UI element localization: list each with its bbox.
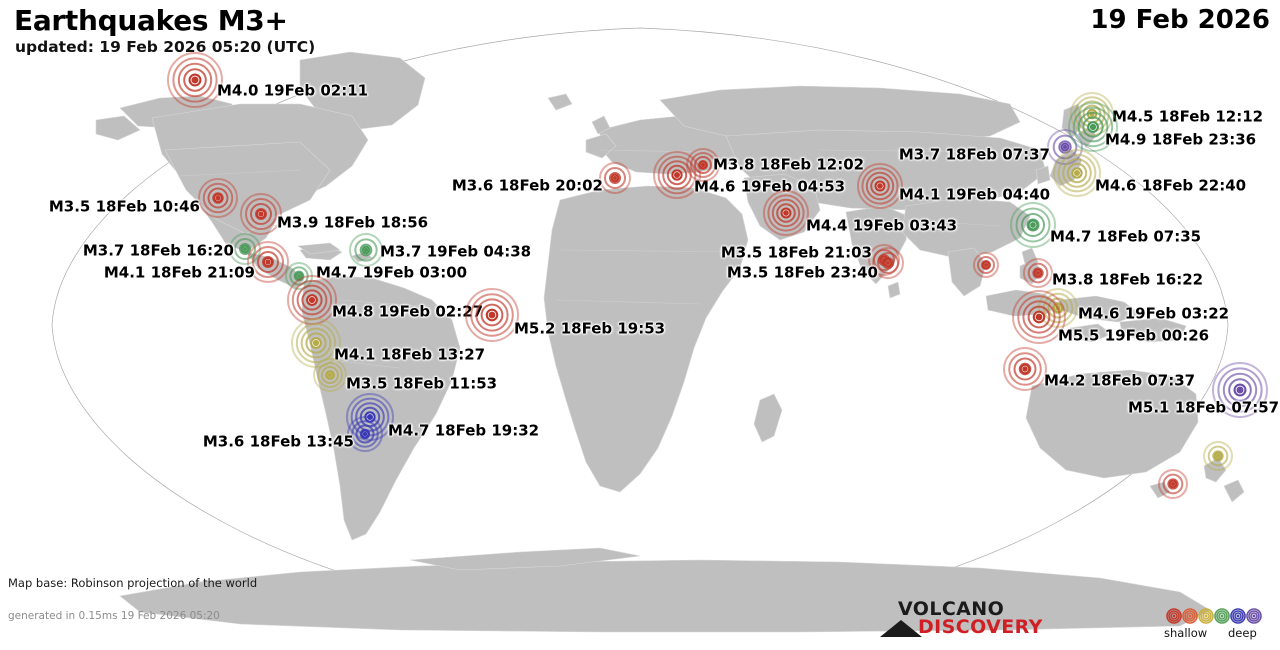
earthquake-map-page: Earthquakes M3+ updated: 19 Feb 2026 05:… <box>0 0 1280 650</box>
earthquake-label: M3.7 18Feb 07:37 <box>899 148 1050 163</box>
generated-caption: generated in 0.15ms 19 Feb 2026 05:20 <box>8 610 220 622</box>
earthquake-marker[interactable] <box>197 177 239 219</box>
earthquake-marker[interactable] <box>598 161 632 195</box>
map-date: 19 Feb 2026 <box>1090 5 1270 35</box>
earthquake-marker[interactable] <box>312 357 348 393</box>
legend-label-deep: deep <box>1228 626 1257 640</box>
earthquake-label: M3.7 18Feb 16:20 <box>83 244 234 259</box>
earthquake-marker[interactable] <box>856 162 904 210</box>
earthquake-marker[interactable] <box>1022 257 1054 289</box>
earthquake-label: M4.0 19Feb 02:11 <box>217 84 368 99</box>
earthquake-marker[interactable] <box>166 51 224 109</box>
page-title: Earthquakes M3+ <box>14 4 288 37</box>
earthquake-label: M5.2 18Feb 19:53 <box>514 322 665 337</box>
earthquake-label: M4.7 19Feb 03:00 <box>316 266 467 281</box>
earthquake-label: M4.1 18Feb 21:09 <box>104 266 255 281</box>
earthquake-marker[interactable] <box>464 287 520 343</box>
earthquake-label: M3.8 18Feb 12:02 <box>713 158 864 173</box>
map-base-caption: Map base: Robinson projection of the wor… <box>8 576 257 590</box>
earthquake-label: M4.2 18Feb 07:37 <box>1044 374 1195 389</box>
logo-line-discovery: DISCOVERY <box>918 616 1043 638</box>
volcano-icon <box>880 620 922 637</box>
earthquake-label: M3.8 18Feb 16:22 <box>1052 273 1203 288</box>
earthquake-marker[interactable] <box>1157 468 1189 500</box>
earthquake-label: M3.6 18Feb 13:45 <box>203 435 354 450</box>
earthquake-label: M4.1 18Feb 13:27 <box>334 348 485 363</box>
depth-legend-swatch <box>1182 608 1198 624</box>
earthquake-label: M4.5 18Feb 12:12 <box>1112 110 1263 125</box>
earthquake-marker[interactable] <box>1002 346 1048 392</box>
depth-legend-swatch <box>1230 608 1246 624</box>
earthquake-label: M3.5 18Feb 11:53 <box>346 377 497 392</box>
depth-legend: shallow deep <box>1166 608 1276 648</box>
depth-legend-swatch <box>1198 608 1214 624</box>
earthquake-label: M5.1 18Feb 07:57 <box>1128 401 1279 416</box>
legend-label-shallow: shallow <box>1164 626 1207 640</box>
depth-legend-swatches <box>1166 608 1262 624</box>
earthquake-label: M3.5 18Feb 21:03 <box>721 246 872 261</box>
earthquake-label: M4.7 18Feb 07:35 <box>1050 230 1201 245</box>
earthquake-label: M4.7 18Feb 19:32 <box>388 424 539 439</box>
earthquake-label: M4.8 19Feb 02:27 <box>332 305 483 320</box>
earthquake-label: M3.5 18Feb 10:46 <box>49 200 200 215</box>
depth-legend-swatch <box>1166 608 1182 624</box>
depth-legend-swatch <box>1214 608 1230 624</box>
earthquake-label: M5.5 19Feb 00:26 <box>1058 329 1209 344</box>
depth-legend-swatch <box>1246 608 1262 624</box>
earthquake-marker[interactable] <box>972 251 1000 279</box>
earthquake-label: M3.9 18Feb 18:56 <box>277 216 428 231</box>
earthquake-label: M4.4 19Feb 03:43 <box>806 219 957 234</box>
earthquake-label: M3.6 18Feb 20:02 <box>452 179 603 194</box>
earthquake-label: M3.5 18Feb 23:40 <box>727 266 878 281</box>
earthquake-marker[interactable] <box>762 189 810 237</box>
earthquake-label: M3.7 19Feb 04:38 <box>380 245 531 260</box>
volcanodiscovery-logo[interactable]: VOLCANO DISCOVERY <box>880 598 1040 642</box>
earthquake-label: M4.9 18Feb 23:36 <box>1105 133 1256 148</box>
earthquake-label: M4.6 18Feb 22:40 <box>1095 179 1246 194</box>
earthquake-marker[interactable] <box>1202 440 1234 472</box>
earthquake-label: M4.6 19Feb 03:22 <box>1078 307 1229 322</box>
